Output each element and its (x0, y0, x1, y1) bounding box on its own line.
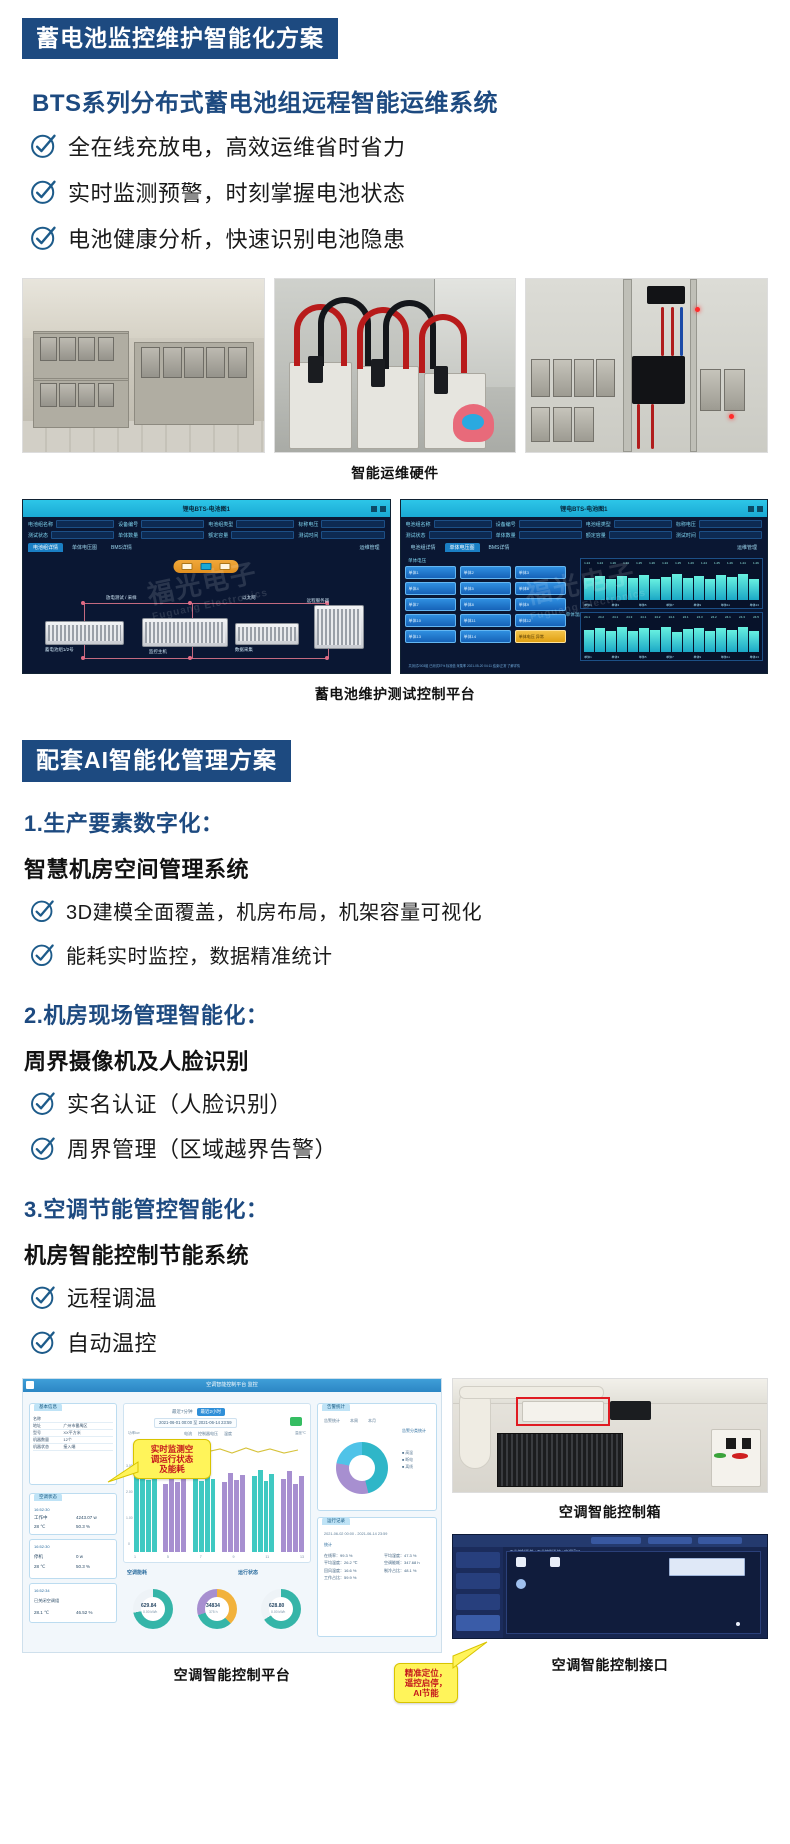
field-group: 电池组名称 (406, 520, 492, 528)
cell-voltage-chart: 1.241.241.261.241.251.261.241.251.261.24… (580, 558, 763, 609)
y-tick: 0 (128, 1542, 130, 1546)
card-alarm-stats: 告警统计 告警统计本周本月 告警分类统计 ■ 高温■ 断电■ 离线 (317, 1403, 437, 1511)
stat-value: 629.84 (141, 1603, 156, 1609)
tab-ops-management[interactable]: 运维管理 (354, 543, 384, 552)
bullet-text: 远程调温 (67, 1286, 157, 1312)
range-quick-1[interactable]: 最近7分钟 (172, 1409, 193, 1415)
dashboard-titlebar: 锂电BTS-电池图1 (23, 500, 390, 517)
bullet-item: 远程调温 (30, 1284, 790, 1315)
cell-temperature-chart: 24.124.224.124.324.124.224.424.124.324.2… (580, 612, 763, 661)
info-row: 型号XX平方米 (33, 1430, 113, 1437)
panel-title-runstate: 运行状态 (238, 1569, 258, 1576)
record-row: 制冷占比：48.1 % (384, 1567, 420, 1574)
group-1-title: 1.生产要素数字化： (0, 806, 790, 838)
alarm-tab: 本月 (368, 1418, 376, 1424)
callout-line: 精准定位， (405, 1668, 448, 1678)
section1-banner: 蓄电池监控维护智能化方案 (22, 18, 338, 59)
sidebar-item (456, 1552, 500, 1568)
hardware-photo-caption: 智能运维硬件 (0, 463, 790, 483)
stat-unit: 375 h (209, 1610, 218, 1614)
field-group: 设备编号 (118, 520, 204, 528)
check-circle-icon (30, 224, 57, 256)
card-ac-status-1: 空调状态 16:52:30 工作中 4243.07 w 28 ℃ 50.3 % (29, 1493, 117, 1535)
check-circle-icon (30, 1090, 56, 1121)
field-label: 标称电压 (298, 521, 318, 528)
cell-button: 单体4 (405, 582, 456, 595)
field-group: 额定容量 (586, 531, 672, 539)
info-value: 12个 (63, 1437, 71, 1443)
x-tick: 13 (300, 1555, 304, 1559)
cell-button: 单体1 (405, 566, 456, 579)
bullet-item: 能耗实时监控，数据精准统计 (30, 942, 790, 972)
card-basic-info: 基本信息 名称 地址广州市番禺区 型号XX平方米 机器数量12个 机器状态接入端 (29, 1403, 117, 1485)
x-tick: 1 (134, 1555, 136, 1559)
cell-button: 单体11 (460, 614, 511, 627)
legend-item: ■ 离线 (402, 1464, 413, 1471)
stat-value: 34834 (206, 1603, 220, 1609)
y-tick: 2.00 (126, 1490, 133, 1494)
cell-button: 单体12 (515, 614, 566, 627)
ac-window-title: 空调智能控制平台 监控 (206, 1381, 257, 1388)
callout-line: 实时监测空 (151, 1444, 194, 1454)
group-2-title: 2.机房现场管理智能化： (0, 998, 790, 1030)
group-3-title: 3.空调节能管控智能化： (0, 1192, 790, 1224)
platform-caption: 蓄电池维护测试控制平台 (0, 684, 790, 704)
record-row: 回风温度：16.6 % (324, 1567, 357, 1574)
photo-battery-cables (274, 278, 517, 453)
field-input[interactable] (321, 531, 384, 539)
field-group: 单体数量 (118, 531, 204, 539)
donut-energy-2: 34834 375 h (191, 1583, 249, 1641)
card-ac-status-2: 16:52:30 停机 0 w 28 ℃ 50.3 % (29, 1539, 117, 1579)
field-label: 设备编号 (118, 521, 138, 528)
bullet-text: 能耗实时监控，数据精准统计 (66, 945, 333, 969)
field-label: 额定容量 (208, 532, 228, 539)
field-input[interactable] (429, 531, 492, 539)
field-group: 测试时间 (676, 531, 762, 539)
chart-value-labels: 1.241.241.261.241.251.261.241.251.261.24… (584, 561, 759, 565)
iface-icon (516, 1557, 526, 1567)
field-input[interactable] (519, 531, 582, 539)
bts-dashboard-cells[interactable]: 锂电BTS-电池图1 电池组名称 设备编号 电池组类型 标称电压 测试状态 单体… (400, 499, 769, 674)
status-state: 停机 (34, 1554, 43, 1560)
field-input[interactable] (141, 531, 204, 539)
callout-line: 调运行状态 (151, 1454, 194, 1464)
record-row: 工作占比：59.9 % (324, 1574, 357, 1581)
group-1-subtitle: 智慧机房空间管理系统 (0, 852, 790, 884)
field-group: 测试状态 (406, 531, 492, 539)
dashboard-titlebar: 锂电BTS-电池图1 (401, 500, 768, 517)
check-circle-icon (30, 898, 55, 928)
tab-cell-voltage[interactable]: 单体电压图 (67, 543, 102, 552)
info-key: 机器数量 (33, 1437, 63, 1443)
iface-stage (506, 1551, 760, 1634)
field-label: 测试状态 (406, 532, 426, 539)
field-label: 测试状态 (28, 532, 48, 539)
status-temp: 28 ℃ (34, 1524, 45, 1530)
bts-dashboard-row: 锂电BTS-电池图1 电池组名称 设备编号 电池组类型 标称电压 测试状态 单体… (0, 499, 790, 674)
tab-battery-detail[interactable]: 电池组详情 (406, 543, 441, 552)
cell-button: 单体14 (460, 630, 511, 643)
field-group: 电池组名称 (28, 520, 114, 528)
flow-control-bar[interactable] (174, 560, 239, 573)
info-row: 名称 (33, 1416, 113, 1423)
bullet-item: 全在线充放电，高效运维省时省力 (30, 132, 790, 164)
field-group: 标称电压 (676, 520, 762, 528)
check-circle-icon (30, 1284, 56, 1315)
stat-value: 628.80 (269, 1603, 284, 1609)
field-input[interactable] (56, 520, 114, 528)
photo-battery-room (22, 278, 265, 453)
sidebar-item-active (456, 1615, 500, 1631)
group-3-subtitle: 机房智能控制节能系统 (0, 1238, 790, 1270)
card-title: 告警统计 (322, 1403, 350, 1411)
group-2-bullets: 实名认证（人脸识别） 周界管理（区域越界告警） (0, 1090, 790, 1166)
section-title-cell-voltage: 单体电压 (408, 558, 426, 564)
field-label: 测试时间 (298, 532, 318, 539)
status-humidity: 46.52 % (76, 1610, 93, 1615)
group-2-subtitle: 周界摄像机及人脸识别 (0, 1044, 790, 1076)
bullet-text: 实时监测预警，时刻掌握电池状态 (68, 181, 406, 207)
window-buttons[interactable] (371, 506, 386, 512)
dashboard-tabs[interactable]: 电池组详情 单体电压图 BMS详情 运维管理 (23, 539, 390, 554)
cell-button: 单体10 (405, 614, 456, 627)
info-value: 广州市番禺区 (63, 1423, 87, 1429)
tab-bms-detail[interactable]: BMS详情 (106, 543, 137, 552)
legend-item: ■ 断电 (402, 1457, 413, 1464)
y-tick: 1.00 (126, 1516, 133, 1520)
check-circle-icon (30, 1329, 56, 1360)
field-input[interactable] (609, 531, 672, 539)
check-circle-icon (30, 1135, 56, 1166)
info-key: 机器状态 (33, 1444, 63, 1450)
field-group: 测试时间 (298, 531, 384, 539)
callout-line: 遥控启停， (405, 1678, 448, 1688)
status-timestamp: 16:52:30 (34, 1507, 50, 1512)
card-ac-status-3: 16:52:34 已关闭空调组 28.1 ℃ 46.52 % (29, 1583, 117, 1623)
status-temp: 28.1 ℃ (34, 1610, 49, 1616)
field-input[interactable] (519, 520, 582, 528)
field-row-2: 测试状态 单体数量 额定容量 测试时间 (23, 528, 390, 539)
search-button[interactable] (290, 1417, 302, 1426)
chart-x-ticks: 1 5 7 9 11 13 (134, 1555, 304, 1559)
field-input[interactable] (614, 520, 672, 528)
toolbar-button (648, 1537, 692, 1544)
field-group: 标称电压 (298, 520, 384, 528)
voltage-bars (584, 569, 759, 600)
flow-cell (182, 563, 193, 570)
window-buttons[interactable] (748, 506, 763, 512)
card-title: 空调状态 (34, 1493, 62, 1501)
callout-line: AI节能 (413, 1688, 439, 1698)
ac-platform-column: 空调智能控制平台 监控 基本信息 名称 地址广州市番禺区 型号XX平方米 机器数… (22, 1378, 442, 1685)
field-input[interactable] (51, 531, 114, 539)
ac-right-column: 空调智能控制箱 工业控制系统 / 工业控制系统 / 空调接口 (452, 1378, 768, 1675)
info-row: 机器数量12个 (33, 1437, 113, 1444)
photo-wall-mounted-box (525, 278, 768, 453)
callout-pointer-icon (453, 1642, 487, 1676)
bullet-text: 实名认证（人脸识别） (67, 1092, 292, 1118)
flow-cell (220, 563, 231, 570)
x-tick: 5 (167, 1555, 169, 1559)
topology-canvas: 蓄电池组1/2号 监控主机 数据采集 远程服务器 放电测试 / 采样 以太网 (27, 558, 386, 669)
record-row: 空调能耗：347.68 h (384, 1559, 420, 1566)
status-humidity: 50.3 % (76, 1524, 90, 1529)
toolbar-button (698, 1537, 742, 1544)
bullet-item: 实时监测预警，时刻掌握电池状态 (30, 178, 790, 210)
alarm-tab: 告警统计 (324, 1418, 340, 1424)
ac-platform-caption: 空调智能控制平台 (22, 1665, 442, 1685)
cell-button-grid[interactable]: 单体1单体2单体3 单体4单体5单体6 单体7单体8单体9 单体10单体11单体… (405, 566, 570, 643)
iface-icon (516, 1579, 526, 1589)
status-power: 0 w (76, 1554, 83, 1559)
cell-button: 单体6 (515, 582, 566, 595)
section2-banner-wrap: 配套AI智能化管理方案 (0, 740, 790, 781)
field-group: 单体数量 (496, 531, 582, 539)
field-label: 测试时间 (676, 532, 696, 539)
home-icon[interactable] (26, 1381, 34, 1389)
field-input[interactable] (434, 520, 492, 528)
iface-icon (550, 1557, 560, 1567)
iface-sidebar[interactable] (453, 1547, 503, 1638)
cell-button-alert[interactable]: 单体电压 异常 (515, 630, 566, 643)
field-input[interactable] (321, 520, 384, 528)
iface-toolbar[interactable] (453, 1535, 767, 1547)
record-header: 2021-06-02 00:00 - 2021-06-14 23:59 (324, 1532, 387, 1536)
info-key: 名称 (33, 1416, 63, 1422)
bullet-item: 3D建模全面覆盖，机房布局，机架容量可视化 (30, 898, 790, 928)
callout-monitor: 实时监测空 调运行状态 及能耗 (133, 1439, 211, 1479)
bullet-item: 电池健康分析，快速识别电池隐患 (30, 224, 790, 256)
x-tick: 11 (265, 1555, 269, 1559)
alarm-tabs[interactable]: 告警统计本周本月 (324, 1418, 376, 1424)
field-group: 电池组类型 (208, 520, 294, 528)
bullet-text: 3D建模全面覆盖，机房布局，机架容量可视化 (66, 901, 482, 925)
field-row-1: 电池组名称 设备编号 电池组类型 标称电压 (401, 517, 768, 528)
cell-button: 单体9 (515, 598, 566, 611)
field-label: 电池组类型 (208, 521, 233, 528)
field-row-2: 测试状态 单体数量 额定容量 测试时间 (401, 528, 768, 539)
cell-button: 单体5 (460, 582, 511, 595)
ac-control-box-photo (452, 1378, 768, 1493)
chart-x-labels: 单体1单体3单体5单体7单体9单体11单体13 (584, 603, 759, 607)
chart-value-labels: 24.124.224.124.324.124.224.424.124.324.2… (584, 615, 759, 619)
info-key: 地址 (33, 1423, 63, 1429)
status-power: 4243.07 w (76, 1515, 97, 1520)
x-tick: 7 (200, 1555, 202, 1559)
bullet-text: 自动温控 (67, 1331, 157, 1357)
cell-button: 单体8 (460, 598, 511, 611)
date-range-input[interactable]: 2021-06-01 00:00 至 2021-06-14 23:59 (154, 1418, 237, 1428)
x-tick: 9 (233, 1555, 235, 1559)
field-input[interactable] (699, 520, 762, 528)
field-group: 设备编号 (496, 520, 582, 528)
tab-bms-detail[interactable]: BMS详情 (484, 543, 515, 552)
cell-button: 单体2 (460, 566, 511, 579)
field-row-1: 电池组名称 设备编号 电池组类型 标称电压 (23, 517, 390, 528)
bullet-item: 自动温控 (30, 1329, 790, 1360)
field-label: 电池组类型 (586, 521, 611, 528)
field-input[interactable] (231, 531, 294, 539)
ac-interface-screen[interactable]: 工业控制系统 / 工业控制系统 / 空调接口 (452, 1534, 768, 1639)
status-temp: 28 ℃ (34, 1564, 45, 1570)
section2-banner: 配套AI智能化管理方案 (22, 740, 291, 781)
field-label: 电池组名称 (28, 521, 53, 528)
highlight-box (516, 1397, 610, 1426)
field-input[interactable] (699, 531, 762, 539)
bullet-item: 实名认证（人脸识别） (30, 1090, 790, 1121)
dashboard-window-title: 锂电BTS-电池图1 (183, 504, 230, 513)
alarm-tab: 本周 (350, 1418, 358, 1424)
field-group: 测试状态 (28, 531, 114, 539)
field-label: 额定容量 (586, 532, 606, 539)
field-label: 电池组名称 (406, 521, 431, 528)
sidebar-item (456, 1573, 500, 1589)
donut-energy-3: 628.80 0.00 kWh (255, 1583, 313, 1641)
status-timestamp: 16:52:30 (34, 1544, 50, 1549)
chart-x-labels: 单体1单体3单体5单体7单体9单体11单体13 (584, 655, 759, 659)
info-value: 接入端 (63, 1444, 75, 1450)
info-value: XX平方米 (63, 1430, 80, 1436)
ac-box-caption: 空调智能控制箱 (452, 1502, 768, 1522)
card-title: 基本信息 (34, 1403, 62, 1411)
bullet-text: 电池健康分析，快速识别电池隐患 (68, 227, 406, 253)
cell-button: 单体7 (405, 598, 456, 611)
ac-energy-chart: 最近7分钟 最近2小时 2021-06-01 00:00 至 2021-06-1… (123, 1403, 311, 1563)
callout-ai-energy: 精准定位， 遥控启停， AI节能 (394, 1663, 458, 1703)
check-circle-icon (30, 132, 57, 164)
bullet-text: 全在线充放电，高效运维省时省力 (68, 135, 406, 161)
field-group: 额定容量 (208, 531, 294, 539)
dashboard-window-title: 锂电BTS-电池图1 (560, 504, 607, 513)
stat-unit: 0.00 kWh (271, 1610, 285, 1614)
temperature-bars (584, 623, 759, 652)
range-quick-2[interactable]: 最近2小时 (197, 1408, 226, 1416)
field-group: 电池组类型 (586, 520, 672, 528)
panel-title-energy: 空调能耗 (127, 1569, 147, 1576)
status-timestamp: 16:52:34 (34, 1588, 50, 1593)
section1-banner-wrap: 蓄电池监控维护智能化方案 (0, 18, 790, 59)
status-state: 工作中 (34, 1515, 48, 1521)
callout-pointer-icon (108, 1458, 138, 1484)
card-run-record: 运行记录 2021-06-02 00:00 - 2021-06-14 23:59… (317, 1517, 437, 1637)
group-3-bullets: 远程调温 自动温控 (0, 1284, 790, 1360)
section1-bullet-list: 全在线充放电，高效运维省时省力 实时监测预警，时刻掌握电池状态 电池健康分析，快… (0, 132, 790, 256)
sidebar-item (456, 1594, 500, 1610)
tab-cell-voltage[interactable]: 单体电压图 (445, 543, 480, 552)
tab-battery-detail[interactable]: 电池组详情 (28, 543, 63, 552)
check-circle-icon (30, 942, 55, 972)
info-row: 机器状态接入端 (33, 1444, 113, 1451)
bullet-item: 周界管理（区域越界告警） (30, 1135, 790, 1166)
cell-button: 单体3 (515, 566, 566, 579)
field-label: 标称电压 (676, 521, 696, 528)
field-input[interactable] (141, 520, 204, 528)
status-humidity: 50.3 % (76, 1564, 90, 1569)
tab-ops-management[interactable]: 运维管理 (732, 543, 762, 552)
stat-unit: 0.00 kWh (143, 1610, 157, 1614)
legend-item: ■ 高温 (402, 1450, 413, 1457)
flow-cell (201, 563, 212, 570)
record-row: 在线率：99.3 % (324, 1552, 357, 1559)
donut-energy-1: 629.84 0.00 kWh (127, 1583, 185, 1641)
cell-button: 单体13 (405, 630, 456, 643)
section1-headline: BTS系列分布式蓄电池组远程智能运维系统 (0, 83, 790, 118)
callout-line: 及能耗 (159, 1464, 185, 1474)
info-key: 型号 (33, 1430, 63, 1436)
bts-dashboard-topology[interactable]: 锂电BTS-电池图1 电池组名称 设备编号 电池组类型 标称电压 测试状态 单体… (22, 499, 391, 674)
dashboard-tabs[interactable]: 电池组详情 单体电压图 BMS详情 运维管理 (401, 539, 768, 554)
ac-interface-caption: 空调智能控制接口 (452, 1655, 768, 1675)
bullet-text: 周界管理（区域越界告警） (67, 1137, 337, 1163)
field-input[interactable] (236, 520, 294, 528)
ac-titlebar: 空调智能控制平台 监控 (23, 1379, 441, 1392)
dashboard-footnote: 共测试2003组 已测试57% 标准值 采集率 2021-05-20 04:11… (409, 663, 760, 668)
check-circle-icon (30, 178, 57, 210)
record-row: 平均湿度：47.3 % (384, 1552, 420, 1559)
status-state: 已关闭空调组 (34, 1598, 59, 1604)
record-row: 平均温度：26.2 ℃ (324, 1559, 357, 1566)
field-label: 设备编号 (496, 521, 516, 528)
field-label: 单体数量 (118, 532, 138, 539)
ac-platform-dashboard[interactable]: 空调智能控制平台 监控 基本信息 名称 地址广州市番禺区 型号XX平方米 机器数… (22, 1378, 442, 1653)
cells-canvas: 单体电压 单体1单体2单体3 单体4单体5单体6 单体7单体8单体9 单体10单… (405, 558, 764, 669)
info-row: 地址广州市番禺区 (33, 1423, 113, 1430)
card-title: 运行记录 (322, 1517, 350, 1525)
hardware-photo-row (0, 278, 790, 453)
ac-screens-row: 空调智能控制平台 监控 基本信息 名称 地址广州市番禺区 型号XX平方米 机器数… (0, 1378, 790, 1685)
toolbar-button (591, 1537, 641, 1544)
group-1-bullets: 3D建模全面覆盖，机房布局，机架容量可视化 能耗实时监控，数据精准统计 (0, 898, 790, 972)
field-label: 单体数量 (496, 532, 516, 539)
